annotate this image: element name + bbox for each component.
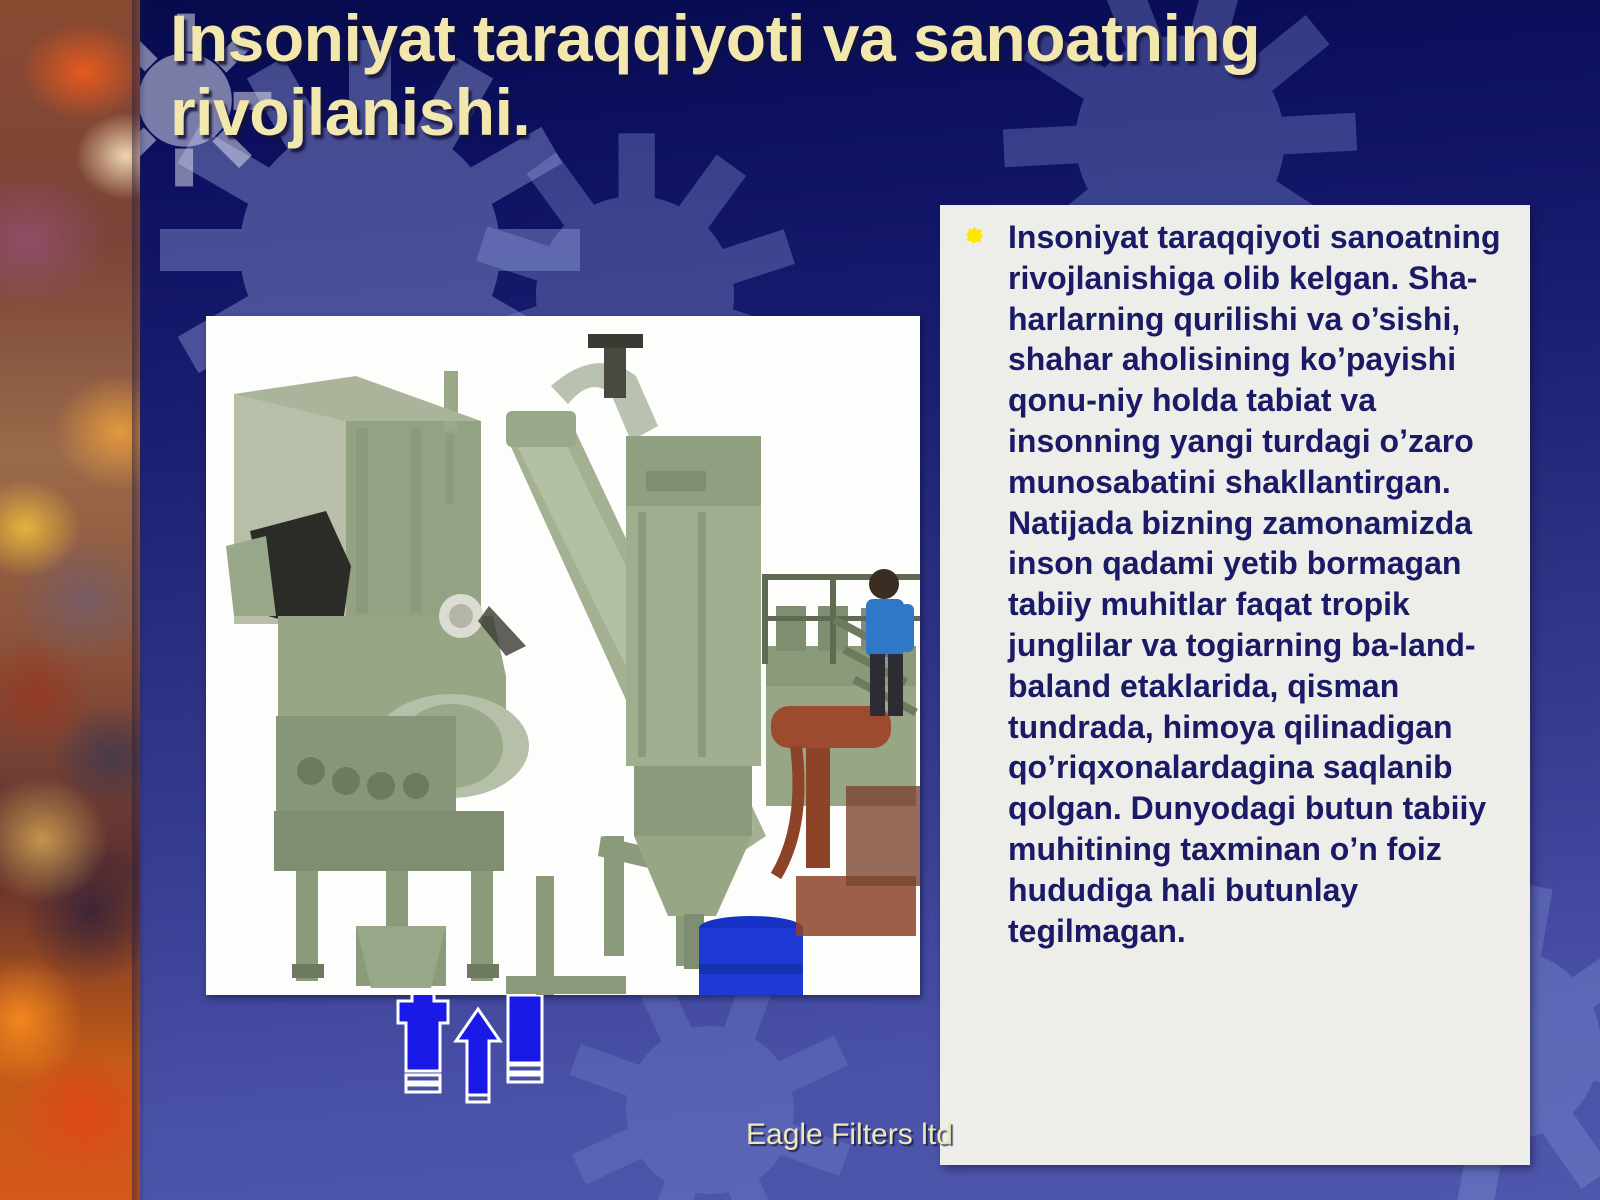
arrow-left-icon <box>398 995 448 1071</box>
industrial-machinery-photo <box>206 316 920 995</box>
presentation-slide: Insoniyat taraqqiyoti va sanoatning rivo… <box>0 0 1600 1200</box>
star-bullet-icon <box>966 227 983 244</box>
content-text-panel: Insoniyat taraqqiyoti sanoatning rivojla… <box>940 205 1530 1165</box>
gear-decoration-bottom-center <box>560 960 860 1200</box>
footer-brand-label: Eagle Filters ltd <box>746 1118 953 1152</box>
upward-arrows-group <box>390 995 550 1105</box>
arrow-right-icon <box>508 995 542 1063</box>
body-paragraph: Insoniyat taraqqiyoti sanoatning rivojla… <box>1008 217 1508 951</box>
page-title: Insoniyat taraqqiyoti va sanoatning rivo… <box>170 2 1470 150</box>
left-decorative-strip <box>0 0 140 1200</box>
machinery-illustration <box>206 316 920 995</box>
arrow-center-icon <box>456 1009 500 1095</box>
